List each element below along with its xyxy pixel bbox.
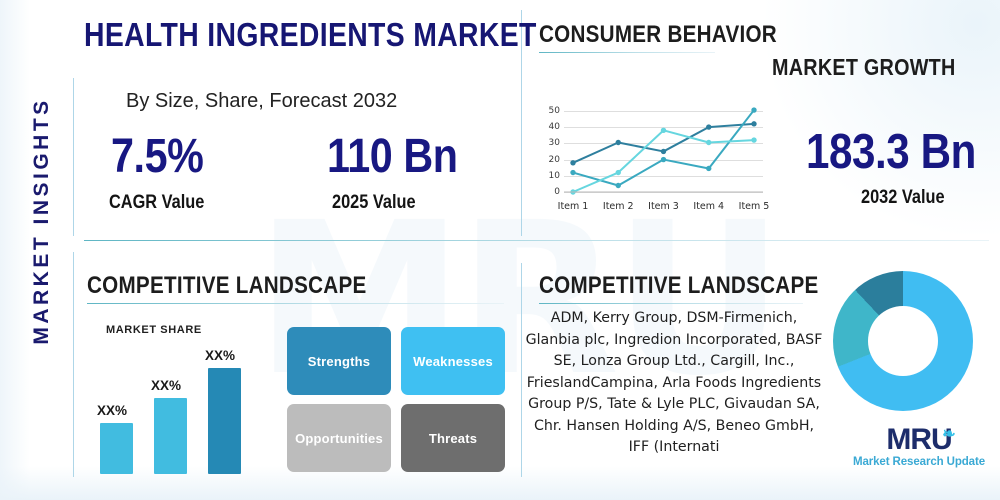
bar: [100, 423, 133, 474]
data-point: [706, 140, 711, 145]
data-point: [570, 160, 575, 165]
logo-wordmark: MRU ❧: [886, 424, 951, 456]
stat-2025-label: 2025 Value: [332, 192, 416, 214]
underline-competitive-left: [87, 303, 504, 304]
side-label-market-insights: MARKET INSIGHTS: [30, 96, 54, 346]
data-point: [706, 124, 711, 129]
stat-cagr-value: 7.5%: [111, 129, 203, 184]
divider-vertical-left-bottom: [73, 252, 74, 477]
bar: [154, 398, 187, 474]
underline-consumer-behavior: [539, 52, 715, 53]
x-axis-tick: Item 3: [644, 201, 684, 212]
section-title-consumer-behavior: CONSUMER BEHAVIOR: [539, 21, 777, 49]
underline-competitive-right: [539, 303, 803, 304]
data-point: [706, 166, 711, 171]
market-share-title: MARKET SHARE: [106, 324, 202, 336]
divider-horizontal-middle: [84, 240, 989, 241]
data-point: [751, 137, 756, 142]
swot-grid: StrengthsWeaknessesOpportunitiesThreats: [287, 327, 505, 472]
stat-2032-label: 2032 Value: [861, 187, 945, 209]
bar-value-label: XX%: [97, 403, 127, 418]
x-axis-tick: Item 5: [734, 201, 774, 212]
donut-center-hole: [868, 306, 938, 376]
leaf-icon: ❧: [942, 419, 954, 451]
divider-vertical-left-top: [73, 78, 74, 236]
market-segment-donut-chart: [833, 271, 973, 411]
data-point: [616, 183, 621, 188]
swot-box-strengths[interactable]: Strengths: [287, 327, 391, 395]
line-chart-plot: [540, 98, 770, 216]
swot-box-opportunities[interactable]: Opportunities: [287, 404, 391, 472]
swot-box-threats[interactable]: Threats: [401, 404, 505, 472]
section-title-market-growth: MARKET GROWTH: [772, 54, 956, 81]
data-point: [616, 140, 621, 145]
background-tint-left: [0, 0, 30, 500]
bar: [208, 368, 241, 474]
market-share-bar-chart: MARKET SHARE XX%XX%XX%: [92, 322, 282, 480]
stat-cagr-label: CAGR Value: [109, 192, 204, 214]
bar-value-label: XX%: [151, 378, 181, 393]
section-title-competitive-landscape-left: COMPETITIVE LANDSCAPE: [87, 272, 367, 300]
bar-value-label: XX%: [205, 348, 235, 363]
data-point: [661, 128, 666, 133]
data-point: [616, 170, 621, 175]
consumer-behavior-line-chart: 01020304050 Item 1Item 2Item 3Item 4Item…: [540, 98, 770, 216]
stat-2025-value: 110 Bn: [327, 129, 458, 184]
data-point: [661, 157, 666, 162]
data-point: [570, 170, 575, 175]
x-axis-tick: Item 2: [598, 201, 638, 212]
section-title-competitive-landscape-right: COMPETITIVE LANDSCAPE: [539, 272, 819, 300]
competitive-landscape-company-list: ADM, Kerry Group, DSM-Firmenich, Glanbia…: [524, 308, 824, 459]
x-axis-tick: Item 1: [553, 201, 593, 212]
stat-2032-value: 183.3 Bn: [806, 124, 976, 180]
subtitle: By Size, Share, Forecast 2032: [126, 90, 397, 113]
data-point: [661, 149, 666, 154]
line-series: [573, 110, 754, 185]
divider-vertical-center-bottom: [521, 263, 522, 477]
data-point: [751, 121, 756, 126]
logo-tagline: Market Research Update: [849, 456, 989, 468]
mru-logo: MRU ❧ Market Research Update: [849, 424, 989, 468]
data-point: [751, 107, 756, 112]
swot-box-weaknesses[interactable]: Weaknesses: [401, 327, 505, 395]
page-title: HEALTH INGREDIENTS MARKET: [84, 16, 537, 54]
x-axis-tick: Item 4: [689, 201, 729, 212]
